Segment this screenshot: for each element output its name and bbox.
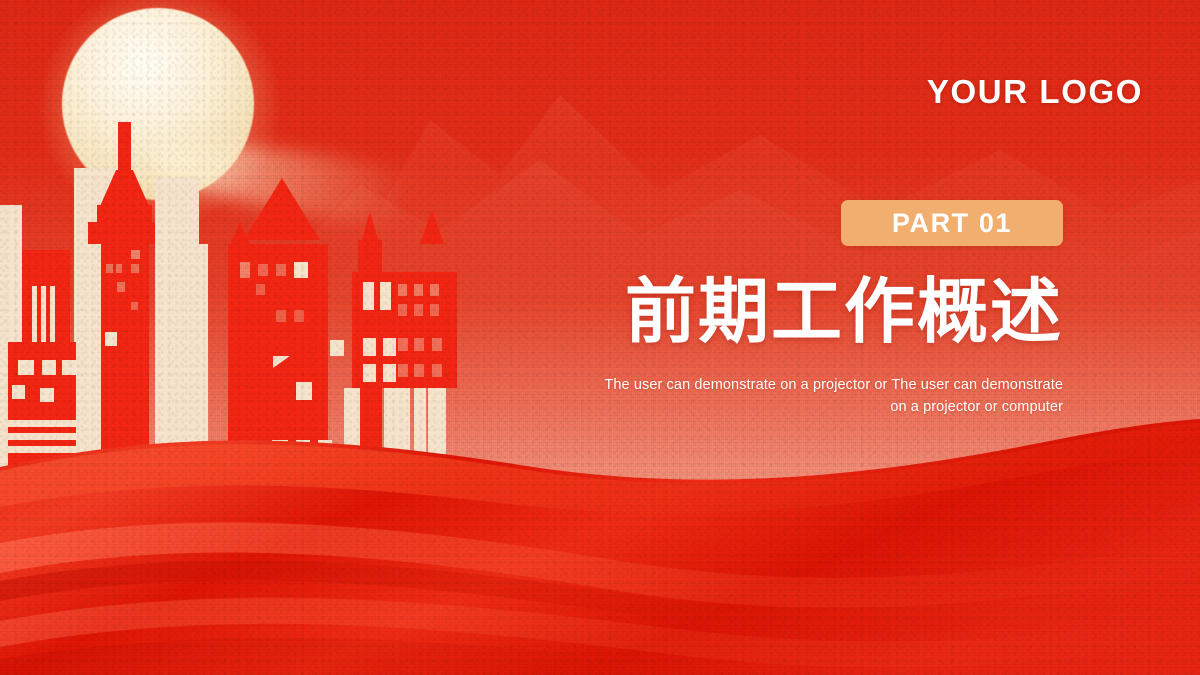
page-subtitle: The user can demonstrate on a projector … xyxy=(520,374,1063,419)
part-badge: PART 01 xyxy=(841,200,1063,246)
subtitle-line-1: The user can demonstrate on a projector … xyxy=(520,374,1063,396)
part-badge-label: PART 01 xyxy=(892,208,1012,239)
presentation-slide: YOUR LOGO PART 01 前期工作概述 The user can de… xyxy=(0,0,1200,675)
subtitle-line-2: on a projector or computer xyxy=(520,396,1063,418)
logo-text: YOUR LOGO xyxy=(927,73,1143,111)
page-title: 前期工作概述 xyxy=(560,276,1063,348)
